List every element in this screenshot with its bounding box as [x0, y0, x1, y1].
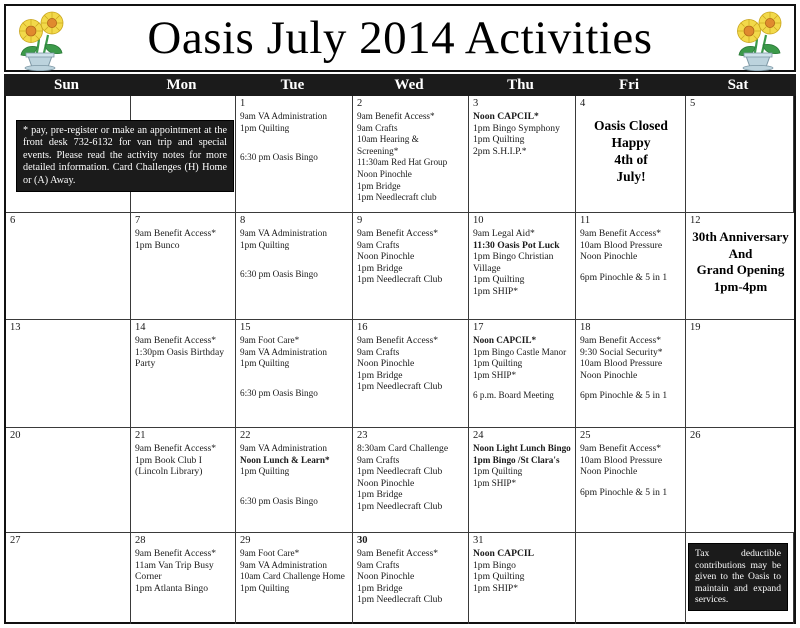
event-item[interactable]: Noon CAPCIL* — [473, 335, 572, 347]
event-item[interactable]: 9am Benefit Access* — [135, 548, 232, 560]
callout-line: 30th Anniversary — [690, 229, 791, 246]
weekday-header-sat: Sat — [684, 74, 792, 96]
event-item[interactable]: 11:30 Oasis Pot Luck — [473, 240, 572, 252]
event-item[interactable]: 1pm Bridge — [357, 583, 465, 595]
event-item[interactable]: 9am VA Administration — [240, 111, 349, 123]
date-number: 19 — [690, 322, 791, 334]
callout-line: Grand Opening — [690, 262, 791, 279]
event-item[interactable]: 9am Benefit Access* — [357, 335, 465, 347]
event-item[interactable]: 10am Blood Pressure — [580, 358, 682, 370]
date-number: 6 — [10, 215, 127, 227]
event-spacer — [240, 379, 349, 388]
event-item[interactable]: 1pm Bridge — [357, 370, 465, 382]
event-item[interactable]: 1pm Bingo Symphony — [473, 123, 572, 135]
event-item[interactable]: 6:30 pm Oasis Bingo — [240, 388, 349, 400]
calendar-day-cell-20[interactable]: 20 — [6, 428, 131, 532]
event-list: 9am Benefit Access*1pm Book Club I(Linco… — [135, 443, 232, 478]
event-item[interactable]: Screening* — [357, 146, 465, 158]
date-number: 29 — [240, 535, 349, 547]
calendar-page: Oasis July 2014 Activities — [0, 0, 800, 628]
event-list: 9am VA AdministrationNoon Lunch & Learn*… — [240, 443, 349, 507]
event-item[interactable]: Party — [135, 358, 232, 370]
day-callout: 30th AnniversaryAndGrand Opening1pm-4pm — [690, 229, 791, 295]
event-list: 9am Benefit Access*1pm Bunco — [135, 228, 232, 251]
date-number: 20 — [10, 430, 127, 442]
event-item[interactable]: 11am Van Trip Busy — [135, 560, 232, 572]
event-item[interactable]: 6:30 pm Oasis Bingo — [240, 152, 349, 164]
event-item[interactable]: Noon Pinochle — [580, 251, 682, 263]
event-list: Noon CAPCIL*1pm Bingo Symphony1pm Quilti… — [473, 111, 572, 157]
event-item[interactable]: 10am Blood Pressure — [580, 240, 682, 252]
event-item[interactable]: 1pm Quilting — [240, 466, 349, 478]
page-title: Oasis July 2014 Activities — [147, 11, 652, 65]
event-list: 9am Benefit Access*9:30 Social Security*… — [580, 335, 682, 402]
sunflower-pot-icon — [12, 9, 70, 71]
calendar-day-cell-6[interactable]: 6 — [6, 213, 131, 319]
calendar-day-cell-empty[interactable] — [576, 533, 686, 624]
event-item[interactable]: 1pm Bingo — [473, 560, 572, 572]
event-item[interactable]: 6pm Pinochle & 5 in 1 — [580, 487, 682, 499]
event-spacer — [240, 251, 349, 260]
calendar-day-cell-24[interactable]: 24Noon Light Lunch Bingo1pm Bingo /St Cl… — [469, 428, 576, 532]
callout-line: And — [690, 246, 791, 263]
event-item[interactable]: Noon Pinochle — [357, 169, 465, 181]
event-item[interactable]: 9am Crafts — [357, 347, 465, 359]
event-item[interactable]: Noon CAPCIL* — [473, 111, 572, 123]
event-spacer — [580, 478, 682, 487]
tax-note-box: Tax deductible contributions may be give… — [688, 543, 788, 611]
event-item[interactable]: 1pm SHIP* — [473, 370, 572, 382]
event-item[interactable]: 1pm Quilting — [240, 123, 349, 135]
event-item[interactable]: 9am VA Administration — [240, 560, 349, 572]
calendar-day-cell-23[interactable]: 238:30am Card Challenge9am Crafts1pm Nee… — [353, 428, 469, 532]
event-item[interactable]: 10am Blood Pressure — [580, 455, 682, 467]
event-spacer — [240, 260, 349, 269]
calendar-day-cell-31[interactable]: 31Noon CAPCIL1pm Bingo1pm Quilting1pm SH… — [469, 533, 576, 624]
event-spacer — [473, 381, 572, 390]
event-item[interactable]: Noon Pinochle — [580, 370, 682, 382]
event-item[interactable]: Noon Pinochle — [580, 466, 682, 478]
event-list: 9am Benefit Access*10am Blood PressureNo… — [580, 443, 682, 498]
callout-line: Happy — [580, 134, 682, 151]
event-item[interactable]: 1pm Quilting — [473, 466, 572, 478]
event-item[interactable]: 1pm Needlecraft club — [357, 192, 465, 204]
date-number: 2 — [357, 98, 465, 110]
event-item[interactable]: 6:30 pm Oasis Bingo — [240, 496, 349, 508]
weekday-header-mon: Mon — [129, 74, 234, 96]
weekday-header-thu: Thu — [467, 74, 574, 96]
weekday-header-fri: Fri — [574, 74, 684, 96]
calendar-day-cell-16[interactable]: 169am Benefit Access*9am CraftsNoon Pino… — [353, 320, 469, 427]
event-item[interactable]: 1pm Needlecraft Club — [357, 466, 465, 478]
event-item[interactable]: 9am VA Administration — [240, 443, 349, 455]
event-list: Noon Light Lunch Bingo1pm Bingo /St Clar… — [473, 443, 572, 489]
event-item[interactable]: 9am Foot Care* — [240, 335, 349, 347]
date-number: 3 — [473, 98, 572, 110]
event-spacer — [580, 381, 682, 390]
callout-line: 1pm-4pm — [690, 279, 791, 296]
date-number: 27 — [10, 535, 127, 547]
callout-line: 4th of — [580, 151, 682, 168]
date-number: 13 — [10, 322, 127, 334]
callout-line: July! — [580, 168, 682, 185]
event-spacer — [240, 487, 349, 496]
calendar-grid: 19am VA Administration1pm Quilting6:30 p… — [4, 96, 796, 624]
event-item[interactable]: 9:30 Social Security* — [580, 347, 682, 359]
event-list: 9am Foot Care*9am VA Administration10am … — [240, 548, 349, 594]
calendar-day-cell-1[interactable]: 19am VA Administration1pm Quilting6:30 p… — [236, 96, 353, 212]
weekday-header-sun: Sun — [4, 74, 129, 96]
event-item[interactable]: 6:30 pm Oasis Bingo — [240, 269, 349, 281]
event-item[interactable]: 9am Crafts — [357, 560, 465, 572]
event-item[interactable]: 1pm Needlecraft Club — [357, 274, 465, 286]
calendar-day-cell-3[interactable]: 3Noon CAPCIL*1pm Bingo Symphony1pm Quilt… — [469, 96, 576, 212]
calendar-day-cell-18[interactable]: 189am Benefit Access*9:30 Social Securit… — [576, 320, 686, 427]
calendar-week-row: 679am Benefit Access*1pm Bunco89am VA Ad… — [6, 213, 794, 320]
event-item[interactable]: Corner — [135, 571, 232, 583]
event-spacer — [240, 143, 349, 152]
date-number: 8 — [240, 215, 349, 227]
date-number: 9 — [357, 215, 465, 227]
calendar-week-row: 19am VA Administration1pm Quilting6:30 p… — [6, 96, 794, 213]
event-item[interactable]: 1pm Quilting — [473, 134, 572, 146]
calendar-day-cell-27[interactable]: 27 — [6, 533, 131, 624]
date-number: 14 — [135, 322, 232, 334]
event-list: Noon CAPCIL1pm Bingo1pm Quilting1pm SHIP… — [473, 548, 572, 594]
event-list: 9am VA Administration1pm Quilting6:30 pm… — [240, 228, 349, 281]
event-item[interactable]: Noon Pinochle — [357, 571, 465, 583]
event-item[interactable]: Village — [473, 263, 572, 275]
calendar-day-cell-14[interactable]: 149am Benefit Access*1:30pm Oasis Birthd… — [131, 320, 236, 427]
event-item[interactable]: 9am Benefit Access* — [580, 228, 682, 240]
event-item[interactable]: 1pm SHIP* — [473, 286, 572, 298]
date-number: 21 — [135, 430, 232, 442]
event-item[interactable]: 9am Benefit Access* — [357, 228, 465, 240]
event-item[interactable]: Noon Pinochle — [357, 478, 465, 490]
calendar-day-cell-5[interactable]: 5 — [686, 96, 794, 212]
event-item[interactable]: 1pm Needlecraft Club — [357, 381, 465, 393]
event-item[interactable]: (Lincoln Library) — [135, 466, 232, 478]
date-number: 26 — [690, 430, 791, 442]
event-item[interactable]: 2pm S.H.I.P.* — [473, 146, 572, 158]
date-number: 31 — [473, 535, 572, 547]
event-list: 9am Legal Aid*11:30 Oasis Pot Luck1pm Bi… — [473, 228, 572, 298]
calendar-week-row: 13149am Benefit Access*1:30pm Oasis Birt… — [6, 320, 794, 428]
event-item[interactable]: 9am Foot Care* — [240, 548, 349, 560]
date-number: 5 — [690, 98, 790, 110]
event-list: 9am Foot Care*9am VA Administration1pm Q… — [240, 335, 349, 399]
date-number: 30 — [357, 535, 465, 547]
date-number: 11 — [580, 215, 682, 227]
event-item[interactable]: 1pm Quilting — [473, 358, 572, 370]
event-item[interactable]: 9am Legal Aid* — [473, 228, 572, 240]
date-number: 15 — [240, 322, 349, 334]
event-item[interactable]: 9am Crafts — [357, 123, 465, 135]
calendar-day-cell-22[interactable]: 229am VA AdministrationNoon Lunch & Lear… — [236, 428, 353, 532]
event-item[interactable]: 1pm Quilting — [473, 571, 572, 583]
general-note-box: * pay, pre-register or make an appointme… — [16, 120, 234, 192]
event-item[interactable]: 1pm Needlecraft Club — [357, 594, 465, 606]
event-item[interactable]: 6 p.m. Board Meeting — [473, 390, 572, 402]
event-item[interactable]: 1pm Bunco — [135, 240, 232, 252]
date-number: 18 — [580, 322, 682, 334]
event-item[interactable]: 10am Hearing & — [357, 134, 465, 146]
callout-line: Oasis Closed — [580, 117, 682, 134]
date-number: 25 — [580, 430, 682, 442]
event-item[interactable]: 11:30am Red Hat Group — [357, 157, 465, 169]
event-item[interactable]: 1pm Bingo Castle Manor — [473, 347, 572, 359]
event-item[interactable]: 9am Benefit Access* — [135, 335, 232, 347]
calendar-day-cell-13[interactable]: 13 — [6, 320, 131, 427]
date-number: 10 — [473, 215, 572, 227]
date-number: 22 — [240, 430, 349, 442]
event-item[interactable]: 1pm SHIP* — [473, 478, 572, 490]
event-item[interactable]: 9am Crafts — [357, 240, 465, 252]
date-number: 16 — [357, 322, 465, 334]
weekday-header-tue: Tue — [234, 74, 351, 96]
event-item[interactable]: 9am Benefit Access* — [135, 443, 232, 455]
event-item[interactable]: 9am Benefit Access* — [135, 228, 232, 240]
weekday-header-wed: Wed — [351, 74, 467, 96]
event-item[interactable]: Noon Pinochle — [357, 251, 465, 263]
calendar-day-cell-2[interactable]: 29am Benefit Access*9am Crafts10am Heari… — [353, 96, 469, 212]
calendar-day-cell-15[interactable]: 159am Foot Care*9am VA Administration1pm… — [236, 320, 353, 427]
weekday-header-row: SunMonTueWedThuFriSat — [4, 74, 796, 96]
event-item[interactable]: Noon Pinochle — [357, 358, 465, 370]
calendar-day-cell-25[interactable]: 259am Benefit Access*10am Blood Pressure… — [576, 428, 686, 532]
event-item[interactable]: 9am Benefit Access* — [580, 443, 682, 455]
event-item[interactable]: 9am Benefit Access* — [357, 548, 465, 560]
event-item[interactable]: 1pm Quilting — [240, 240, 349, 252]
calendar-week-row: 20219am Benefit Access*1pm Book Club I(L… — [6, 428, 794, 533]
event-item[interactable]: Noon Lunch & Learn* — [240, 455, 349, 467]
event-spacer — [580, 263, 682, 272]
event-list: 9am Benefit Access*11am Van Trip BusyCor… — [135, 548, 232, 594]
event-item[interactable]: 9am VA Administration — [240, 228, 349, 240]
day-callout: Oasis ClosedHappy4th ofJuly! — [580, 117, 682, 185]
date-number: 17 — [473, 322, 572, 334]
calendar-day-cell-19[interactable]: 19 — [686, 320, 794, 427]
event-list: 9am Benefit Access*9am Crafts10am Hearin… — [357, 111, 465, 204]
calendar-day-cell-9[interactable]: 99am Benefit Access*9am CraftsNoon Pinoc… — [353, 213, 469, 319]
calendar-day-cell-7[interactable]: 79am Benefit Access*1pm Bunco — [131, 213, 236, 319]
event-item[interactable]: 9am Benefit Access* — [357, 111, 465, 123]
event-item[interactable]: 1pm Needlecraft Club — [357, 501, 465, 513]
event-item[interactable]: 1pm Bridge — [357, 263, 465, 275]
event-item[interactable]: Noon CAPCIL — [473, 548, 572, 560]
event-list: 9am Benefit Access*9am CraftsNoon Pinoch… — [357, 335, 465, 393]
event-item[interactable]: 1pm Quilting — [473, 274, 572, 286]
event-list: 9am VA Administration1pm Quilting6:30 pm… — [240, 111, 349, 164]
event-spacer — [240, 478, 349, 487]
calendar-day-cell-4[interactable]: 4Oasis ClosedHappy4th ofJuly! — [576, 96, 686, 212]
date-number: 1 — [240, 98, 349, 110]
event-list: 9am Benefit Access*9am CraftsNoon Pinoch… — [357, 548, 465, 606]
calendar-day-cell-17[interactable]: 17Noon CAPCIL*1pm Bingo Castle Manor1pm … — [469, 320, 576, 427]
event-item[interactable]: 9am Crafts — [357, 455, 465, 467]
calendar-day-cell-26[interactable]: 26 — [686, 428, 794, 532]
event-list: 9am Benefit Access*9am CraftsNoon Pinoch… — [357, 228, 465, 286]
calendar-day-cell-12[interactable]: 1230th AnniversaryAndGrand Opening1pm-4p… — [686, 213, 794, 319]
calendar-day-cell-8[interactable]: 89am VA Administration1pm Quilting6:30 p… — [236, 213, 353, 319]
calendar-day-cell-11[interactable]: 119am Benefit Access*10am Blood Pressure… — [576, 213, 686, 319]
event-list: Noon CAPCIL*1pm Bingo Castle Manor1pm Qu… — [473, 335, 572, 402]
calendar-day-cell-29[interactable]: 299am Foot Care*9am VA Administration10a… — [236, 533, 353, 624]
event-item[interactable]: 1pm Bingo Christian — [473, 251, 572, 263]
sunflower-pot-icon — [730, 9, 788, 71]
event-item[interactable]: Noon Light Lunch Bingo — [473, 443, 572, 455]
event-item[interactable]: 1pm Bridge — [357, 181, 465, 193]
event-item[interactable]: 1pm SHIP* — [473, 583, 572, 595]
date-number: 28 — [135, 535, 232, 547]
date-number: 4 — [580, 98, 682, 110]
event-item[interactable]: 8:30am Card Challenge — [357, 443, 465, 455]
date-number: 23 — [357, 430, 465, 442]
calendar-day-cell-10[interactable]: 109am Legal Aid*11:30 Oasis Pot Luck1pm … — [469, 213, 576, 319]
event-item[interactable]: 1pm Bingo /St Clara's — [473, 455, 572, 467]
date-number: 12 — [690, 215, 791, 227]
event-list: 8:30am Card Challenge9am Crafts1pm Needl… — [357, 443, 465, 513]
event-item[interactable]: 1pm Book Club I — [135, 455, 232, 467]
event-spacer — [240, 370, 349, 379]
event-item[interactable]: 10am Card Challenge Home — [240, 571, 349, 583]
event-list: 9am Benefit Access*10am Blood PressureNo… — [580, 228, 682, 283]
calendar-week-row: 27289am Benefit Access*11am Van Trip Bus… — [6, 533, 794, 624]
event-item[interactable]: 9am Benefit Access* — [580, 335, 682, 347]
event-list: 9am Benefit Access*1:30pm Oasis Birthday… — [135, 335, 232, 370]
event-item[interactable]: 6pm Pinochle & 5 in 1 — [580, 390, 682, 402]
event-item[interactable]: 1pm Atlanta Bingo — [135, 583, 232, 595]
event-item[interactable]: 9am VA Administration — [240, 347, 349, 359]
calendar-day-cell-21[interactable]: 219am Benefit Access*1pm Book Club I(Lin… — [131, 428, 236, 532]
event-item[interactable]: 1:30pm Oasis Birthday — [135, 347, 232, 359]
event-item[interactable]: 6pm Pinochle & 5 in 1 — [580, 272, 682, 284]
event-item[interactable]: 1pm Quilting — [240, 583, 349, 595]
event-item[interactable]: 1pm Bridge — [357, 489, 465, 501]
event-spacer — [240, 134, 349, 143]
date-number: 24 — [473, 430, 572, 442]
date-number: 7 — [135, 215, 232, 227]
calendar-day-cell-30[interactable]: 309am Benefit Access*9am CraftsNoon Pino… — [353, 533, 469, 624]
calendar-day-cell-28[interactable]: 289am Benefit Access*11am Van Trip BusyC… — [131, 533, 236, 624]
event-item[interactable]: 1pm Quilting — [240, 358, 349, 370]
calendar-banner: Oasis July 2014 Activities — [4, 4, 796, 72]
